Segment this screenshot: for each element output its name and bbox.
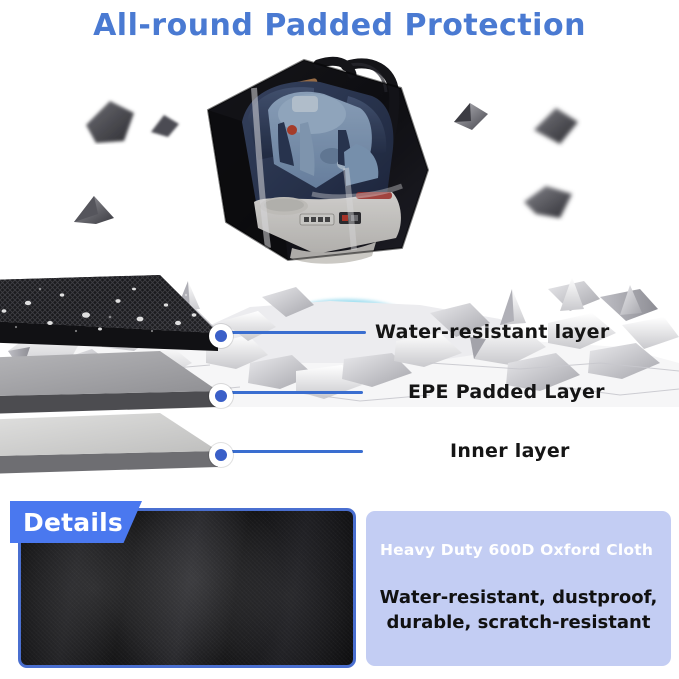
details-badge-label: Details: [23, 508, 123, 537]
callout-dot-epe-padded: [209, 384, 233, 408]
exploded-layer-stack: [0, 275, 350, 490]
layer-swatch-water-resistant: [0, 275, 218, 351]
details-info-panel: Heavy Duty 600D Oxford Cloth Water-resis…: [366, 511, 671, 666]
layer-swatch-inner: [0, 413, 218, 475]
debris-shard-left-lower: [72, 192, 118, 226]
details-body-line2: durable, scratch-resistant: [370, 610, 667, 635]
debris-shard-right-upper: [452, 100, 492, 134]
page-title: All-round Padded Protection: [0, 8, 679, 43]
debris-shard-left-upper: [80, 97, 138, 145]
hero-scene: [0, 52, 679, 302]
details-headline: Heavy Duty 600D Oxford Cloth: [380, 541, 665, 559]
callout-dot-inner: [209, 443, 233, 467]
callout-line-inner: [226, 450, 363, 453]
callout-line-water-resistant: [226, 331, 366, 334]
callout-label-inner: Inner layer: [450, 440, 570, 462]
callout-line-epe-padded: [226, 391, 363, 394]
infographic-canvas: All-round Padded Protection: [0, 0, 679, 679]
details-body: Water-resistant, dustproof, durable, scr…: [370, 585, 667, 635]
details-badge: Details: [10, 501, 142, 543]
layer-swatch-epe-padded: [0, 351, 218, 415]
debris-shard-right-lower: [520, 180, 576, 222]
car-seat-in-travel-bag: [196, 52, 446, 290]
debris-shard-center-left: [148, 112, 182, 140]
callout-dot-water-resistant: [209, 324, 233, 348]
callout-label-water-resistant: Water-resistant layer: [375, 321, 610, 343]
callout-label-epe-padded: EPE Padded Layer: [408, 381, 605, 403]
debris-shard-right-blurred: [528, 104, 582, 148]
details-body-line1: Water-resistant, dustproof,: [370, 585, 667, 610]
